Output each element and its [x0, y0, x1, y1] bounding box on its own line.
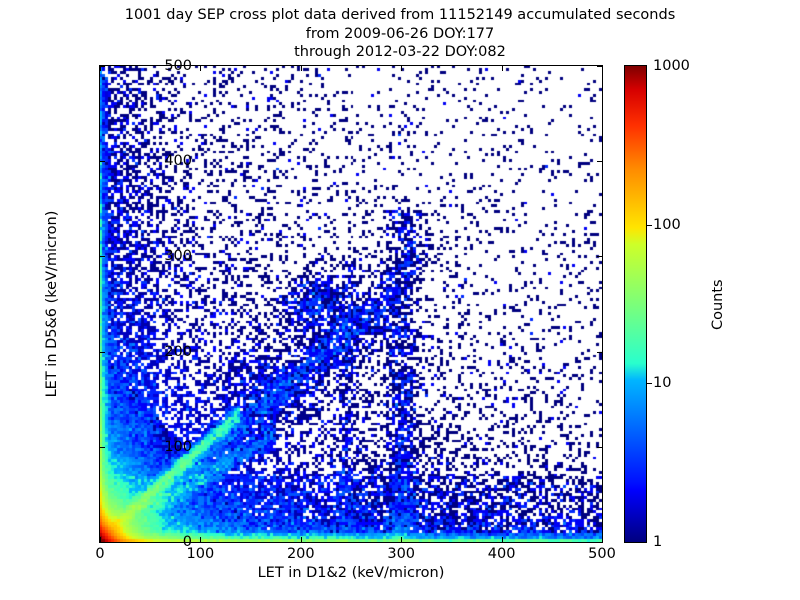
x-axis-label: LET in D1&2 (keV/micron): [99, 565, 603, 581]
y-axis-tick: [597, 542, 602, 543]
x-axis-tick: [200, 66, 201, 71]
colorbar-tick-label: 10: [653, 376, 671, 391]
x-axis-tick: [602, 66, 603, 71]
colorbar-tick: [647, 225, 652, 226]
x-axis-tick-label: 400: [488, 547, 516, 562]
y-axis-label: LET in D5&6 (keV/micron): [44, 65, 60, 543]
x-axis-tick: [401, 537, 402, 542]
x-axis-tick: [100, 537, 101, 542]
y-axis-tick-label: 300: [164, 249, 192, 264]
y-axis-tick-label: 500: [164, 59, 192, 74]
x-axis-tick: [301, 537, 302, 542]
title-line-2: from 2009-06-26 DOY:177: [0, 25, 800, 44]
density-plot-figure: 1001 day SEP cross plot data derived fro…: [0, 0, 800, 600]
plot-axes-area: [99, 65, 603, 543]
y-axis-tick: [597, 256, 602, 257]
y-axis-tick: [597, 161, 602, 162]
x-axis-tick: [200, 537, 201, 542]
x-axis-tick-label: 200: [287, 547, 315, 562]
colorbar-tick-label: 1: [653, 535, 662, 550]
y-axis-tick: [100, 447, 105, 448]
colorbar-title: Counts: [710, 279, 726, 330]
y-axis-tick: [597, 447, 602, 448]
title-line-1: 1001 day SEP cross plot data derived fro…: [0, 6, 800, 25]
x-axis-tick: [301, 66, 302, 71]
y-axis-tick-label: 200: [164, 345, 192, 360]
y-axis-tick: [100, 256, 105, 257]
y-axis-tick: [597, 352, 602, 353]
x-axis-tick: [100, 66, 101, 71]
x-axis-tick: [602, 537, 603, 542]
x-axis-tick-label: 0: [95, 547, 104, 562]
y-axis-tick-label: 100: [164, 440, 192, 455]
colorbar-tick-label: 1000: [653, 59, 690, 74]
colorbar: [624, 65, 647, 543]
density-heatmap-canvas: [100, 66, 602, 542]
colorbar-tick-label: 100: [653, 217, 681, 232]
x-axis-tick: [502, 66, 503, 71]
x-axis-tick: [502, 537, 503, 542]
y-axis-tick: [100, 352, 105, 353]
colorbar-tick: [647, 383, 652, 384]
figure-title: 1001 day SEP cross plot data derived fro…: [0, 6, 800, 62]
colorbar-gradient: [625, 66, 646, 542]
x-axis-tick-label: 100: [187, 547, 215, 562]
y-axis-tick: [100, 161, 105, 162]
y-axis-tick-label: 400: [164, 154, 192, 169]
y-axis-tick: [100, 542, 105, 543]
x-axis-tick-label: 500: [588, 547, 616, 562]
x-axis-tick: [401, 66, 402, 71]
x-axis-tick-label: 300: [387, 547, 415, 562]
